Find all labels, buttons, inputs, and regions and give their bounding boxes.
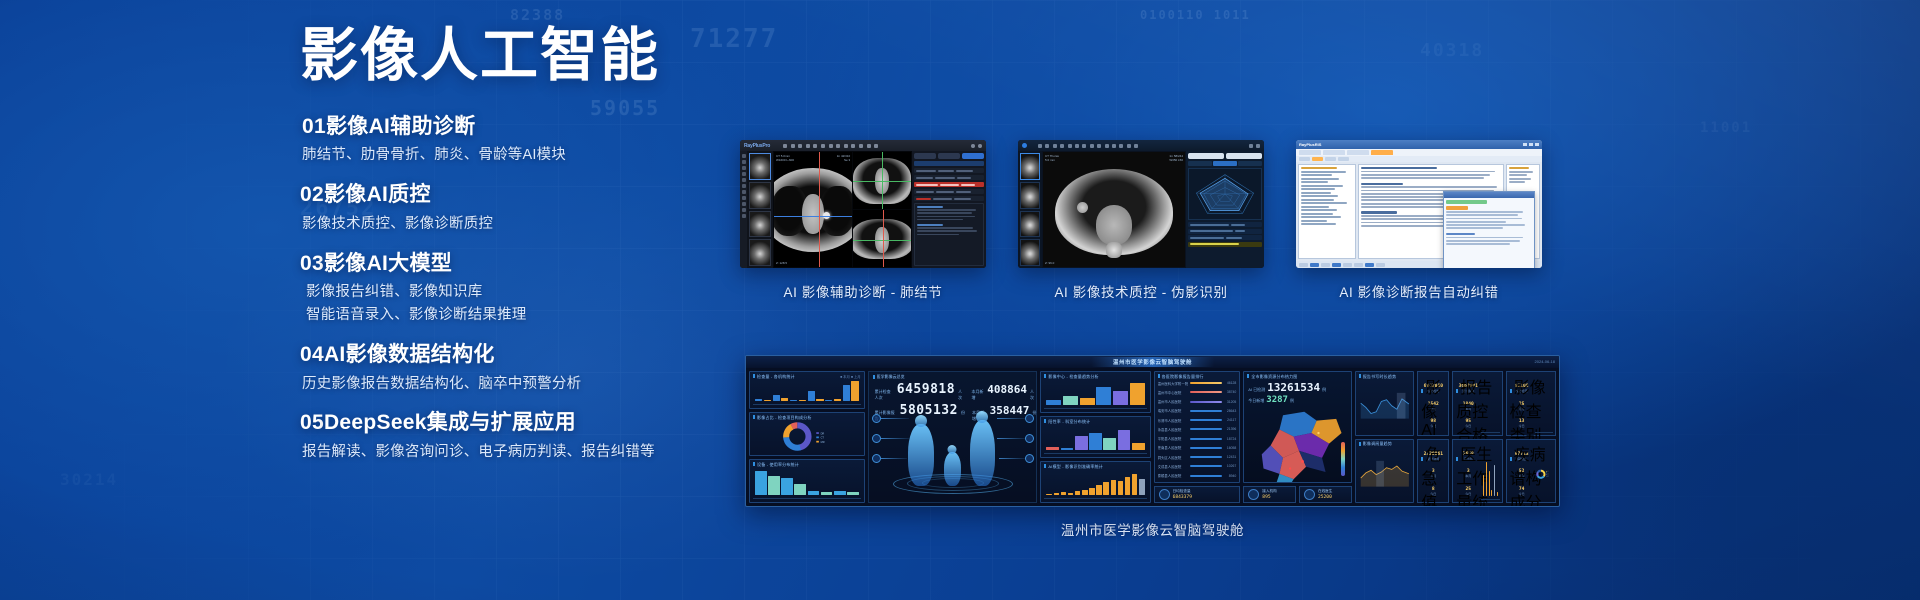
kpi-label: 累计检查人次 [875,389,894,401]
dashboard-minicard-grid: 影像AI检出统计 6843080累计检出 1542本月 98今日 [1417,371,1556,503]
screenshot-card-ct-nodule[interactable]: RayPlusPro [740,140,986,301]
qc-findings-list[interactable] [1188,222,1262,266]
minicard-disease-spectrum[interactable]: 疾病谱构成分析 97713病种数 52本月 74今日 [1506,439,1556,504]
page-title: 影像人工智能 [300,24,720,89]
doctor-icon [1248,489,1259,500]
dashboard-column-3: 影像中心 - 检查量趋势分析 阳性率 - 科室分布统计 [1040,371,1150,503]
rank-row[interactable]: 平阳县人民医院18724 [1158,436,1237,442]
map-color-legend [1341,442,1345,476]
minicard-ai-detection[interactable]: 影像AI检出统计 6843080累计检出 1542本月 98今日 [1417,371,1449,436]
window-controls[interactable] [1523,143,1539,146]
hologram-adult-right [970,420,995,486]
qc-annotation: Im 58/244W350 L50 [1169,154,1183,163]
feature-desc-04: 历史影像报告数据结构化、脑卒中预警分析 [302,373,720,396]
bar-chart [1481,380,1499,433]
ct-finding-row[interactable] [914,189,984,194]
dashboard-column-map: 全市影像资源分布热力图 AI 已检测 13261534 例 今日新增 3287 … [1243,371,1351,503]
qc-toolbar[interactable] [1038,144,1138,148]
ct-coronal-view[interactable] [853,152,911,209]
qc-artifact-marker [1077,202,1088,213]
donut-chart: 肺 骨 脑 腹 [1535,448,1553,501]
rank-row[interactable]: 泰顺县人民医院8940 [1158,473,1237,479]
panel-overview-kpi[interactable]: 医学影像云总览 累计检查人次 6459818 人次 本月新增 408864 人次… [868,371,1038,503]
close-icon[interactable] [1256,144,1260,148]
ct-toolbar[interactable] [783,144,878,148]
ct-thumbnail[interactable] [749,182,771,209]
hologram-node-icon [872,414,881,423]
choropleth-map [1244,394,1350,483]
ct-series-thumbnails[interactable] [747,151,773,268]
toolbar-button[interactable] [1338,157,1349,161]
panel-positive-rate[interactable]: 阳性率 - 科室分布统计 [1040,416,1150,458]
hologram-node-icon [1025,434,1034,443]
screenshot-caption-qc-artifact: AI 影像技术质控 - 伪影识别 [1054,281,1227,301]
ct-report-notes[interactable] [914,203,984,266]
stat-box[interactable]: 接入机构895 [1243,486,1296,503]
area-chart-image-access [1359,448,1411,500]
footer-button[interactable] [1321,263,1330,267]
ct-findings-panel[interactable] [912,151,986,268]
minimize-icon[interactable] [1249,144,1253,148]
dashboard-caption: 温州市医学影像云智脑驾驶舱 [745,519,1560,539]
ct-annotation: Z: 128.5 [776,261,787,265]
qc-score-segments[interactable] [1188,161,1262,166]
screenshot-thumbnail-report-autocorrect[interactable]: RayPlusRIS [1296,140,1542,268]
report-tab[interactable] [1347,150,1369,155]
ai-detect-value: 13261534 [1267,381,1320,394]
panel-device-usage[interactable]: 设备 - 使用率分布统计 [749,459,865,503]
svg-text:肺: 肺 [1547,469,1548,472]
panel-resource-map[interactable]: 全市影像资源分布热力图 AI 已检测 13261534 例 今日新增 3287 … [1243,371,1351,483]
footer-button-primary[interactable] [1365,263,1374,267]
rank-row[interactable]: 温州市中心医院38740 [1158,389,1237,395]
screenshot-thumbnail-ct-nodule[interactable]: RayPlusPro [740,140,986,268]
bar-chart-positive-rate [1044,425,1146,454]
qc-thumbnail[interactable] [1020,182,1040,209]
kpi-panel-title: 医学影像云总览 [873,374,905,380]
dashboard-header-title: 温州市医学影像云智脑驾驶舱 [1091,357,1214,367]
panel-institution-volume[interactable]: 检查量 - 各机构统计 ■ 本月 ■ 上月 [749,371,865,409]
feature-desc-03: 影像报告纠错、影像知识库 智能语音录入、影像诊断结果推理 [306,281,720,327]
toolbar-button[interactable] [1325,157,1336,161]
feature-title-04: 04AI影像数据结构化 [300,339,720,371]
qc-score-panel[interactable] [1186,151,1264,268]
stat-box-row-left: 日均检查量6843379 [1154,486,1241,503]
rank-row[interactable]: 苍南县人民医院16058 [1158,445,1237,451]
toolbar-button-primary[interactable] [1312,157,1323,161]
close-icon[interactable] [1535,143,1539,146]
hologram-node-icon [1025,454,1034,463]
ct-crosshair-horizontal [774,216,852,217]
qc-annotation: CT Thorax5.0 mm [1045,154,1059,163]
ct-crosshair-vertical [819,152,820,267]
app-logo: RayPlusPro [744,143,770,149]
bar-chart [1535,380,1553,433]
ct-finding-row[interactable] [914,175,984,180]
qc-titlebar [1018,140,1264,151]
kpi-value: 6459818 [897,382,955,397]
hologram-adult-left [908,424,934,486]
ct-thumbnail[interactable] [749,211,771,238]
report-tree-panel[interactable] [1298,164,1356,259]
bar-chart-institution-volume [753,380,861,405]
qc-annotation: Z: 96.0 [1045,261,1054,265]
ct-finding-row-alert[interactable] [914,182,984,187]
footer-button-primary[interactable] [1310,263,1319,267]
feature-title-05: 05DeepSeek集成与扩展应用 [300,407,720,439]
ct-titlebar: RayPlusPro [740,140,986,151]
kpi-row-1: 累计检查人次 6459818 人次 本月新增 408864 人次 [875,382,1037,401]
panel-ai-accuracy[interactable]: AI模型 - 影像识别准确率统计 [1040,461,1150,503]
ct-nodule-marker [823,212,830,219]
svg-text:CT: CT [821,436,825,440]
panel-report-duration-trend[interactable]: 报告书写时长趋势 [1355,371,1415,436]
screenshot-caption-ct-nodule: AI 影像辅助诊断 - 肺结节 [783,281,942,301]
dashboard-screenshot[interactable]: 温州市医学影像云智脑驾驶舱 2024-06-18 检查量 - 各机构统计 ■ 本… [745,355,1560,507]
ct-axial-view[interactable]: CT 5.0mmW1600 L-600 Im 42/310Se 3 Z: 128… [774,152,852,267]
report-tabs[interactable] [1296,149,1542,156]
ct-findings-header [914,161,984,166]
screenshot-caption-report-autocorrect: AI 影像诊断报告自动纠错 [1339,281,1498,301]
feature-title-03: 03影像AI大模型 [300,248,720,280]
screenshot-card-qc-artifact[interactable]: CT Thorax5.0 mm Im 58/244W350 L50 Z: 96.… [1018,140,1264,301]
rank-row[interactable]: 温州市人民医院31205 [1158,399,1237,405]
ct-thumbnail[interactable] [749,239,771,266]
bar-chart-center-trend [1044,380,1146,409]
svg-text:MR: MR [821,440,825,444]
qc-thumbnail[interactable] [1020,153,1040,180]
hologram-node-icon [872,454,881,463]
feature-desc-02: 影像技术质控、影像诊断质控 [302,213,720,236]
kpi-unit: 份 [1032,410,1036,416]
dashboard-column-ranking: 各医院影像报告量排行 温州医科大学附一院46128 温州市中心医院38740 温… [1154,371,1241,503]
ct-lung-image [774,168,852,252]
stat-box[interactable]: 日均检查量6843379 [1154,486,1241,503]
panel-center-trend[interactable]: 影像中心 - 检查量趋势分析 [1040,371,1150,413]
report-tab[interactable] [1323,150,1345,155]
feature-item-03: 03影像AI大模型 影像报告纠错、影像知识库 智能语音录入、影像诊断结果推理 [300,248,720,327]
ct-finding-row[interactable] [914,168,984,173]
footer-button-primary[interactable] [1332,263,1341,267]
app-logo-icon [1022,143,1027,148]
report-document-panel[interactable] [1358,164,1504,259]
kpi-value: 408864 [987,383,1027,396]
qc-finding-row[interactable] [1188,235,1262,240]
kpi-label: 本月新增 [971,389,984,401]
qc-finding-row[interactable] [1188,229,1262,234]
autocorrect-dialog[interactable] [1443,191,1535,268]
screenshot-row: RayPlusPro [740,140,1542,301]
kpi-unit: 人次 [958,389,964,401]
device-icon [1304,489,1315,500]
panel-exam-composition[interactable]: 影像占比 - 检查项目构成分析 DR CT [749,412,865,456]
dashboard-header-date: 2024-06-18 [1535,359,1555,364]
qc-mediastinum [1096,205,1132,245]
hologram-child [944,452,961,486]
stat-box[interactable]: 在线医生25200 [1299,486,1352,503]
qc-thumbnail[interactable] [1020,239,1040,266]
rank-row[interactable]: 文成县人民医院10267 [1158,463,1237,469]
ct-tool-rail[interactable] [740,151,747,268]
ct-finding-row[interactable] [914,196,984,201]
dashboard-column-left: 检查量 - 各机构统计 ■ 本月 ■ 上月 影像占比 - 检查项目构成分析 [749,371,865,503]
feature-item-02: 02影像AI质控 影像技术质控、影像诊断质控 [300,179,720,235]
maximize-icon[interactable] [1529,143,1533,146]
feature-item-04: 04AI影像数据结构化 历史影像报告数据结构化、脑卒中预警分析 [300,339,720,395]
toolbar-button[interactable] [1299,157,1310,161]
report-titlebar: RayPlusRIS [1296,140,1542,149]
ct-annotation: Im 42/310Se 3 [837,154,850,163]
minicard-exam-category[interactable]: 影像检查类别统计 85108累计检查 25本月 13今日 [1506,371,1556,436]
feature-desc-01: 肺结节、肋骨骨折、肺炎、骨龄等AI模块 [302,144,720,167]
rank-row[interactable]: 永嘉县人民医院21396 [1158,426,1237,432]
qc-finding-row[interactable] [1188,222,1262,227]
ct-annotation: CT 5.0mmW1600 L-600 [776,154,794,163]
rank-row[interactable]: 温州医科大学附一院46128 [1158,380,1237,386]
feature-item-01: 01影像AI辅助诊断 肺结节、肋骨骨折、肺炎、骨龄等AI模块 [300,111,720,167]
panel-image-access-trend[interactable]: 影像调阅量趋势 [1355,439,1415,504]
report-tab[interactable] [1299,150,1321,155]
qc-series-thumbnails[interactable] [1018,151,1042,268]
app-logo: RayPlusRIS [1299,142,1321,147]
footer-button[interactable] [1299,263,1308,267]
feature-item-05: 05DeepSeek集成与扩展应用 报告解读、影像咨询问诊、电子病历判读、报告纠… [300,407,720,463]
donut-chart-exam-composition: DR CT MR [753,421,861,452]
rank-row[interactable]: 洞头区人民医院12431 [1158,454,1237,460]
feature-desc-05: 报告解读、影像咨询问诊、电子病历判读、报告纠错等 [302,441,720,464]
hospital-icon [1159,489,1170,500]
screenshot-card-report-autocorrect[interactable]: RayPlusRIS [1296,140,1542,301]
kpi-unit: 人次 [1030,389,1036,401]
minimize-icon[interactable] [1523,143,1527,146]
feature-title-02: 02影像AI质控 [300,179,720,211]
stat-box-row-map: 接入机构895 在线医生25200 [1243,486,1351,503]
minicard-report-quality[interactable]: 报告质控合格率统计 3662901累计报告 1840本月 95今日 [1452,371,1502,436]
close-icon[interactable] [978,144,982,148]
line-chart-report-duration [1359,380,1411,432]
minicard-critical-values[interactable]: 医生工作量统计 7658危急值 3本月 25今日 [1452,439,1502,504]
report-tab-active[interactable] [1371,150,1393,155]
hologram-node-icon [1025,414,1034,423]
svg-text:DR: DR [821,431,825,435]
qc-image-view[interactable]: CT Thorax5.0 mm Im 58/244W350 L50 Z: 96.… [1043,152,1185,267]
ai-detect-unit: 例 [1322,387,1326,393]
minicard-image-access[interactable]: 危急值上报统计 2320861累计调阅 3本月 8今日 [1417,439,1449,504]
bar-chart-ai-accuracy [1044,470,1146,499]
hologram-figure-group [878,408,1028,494]
dashboard-column-sparklines: 报告书写时长趋势 影像调阅量趋势 [1355,371,1415,503]
footer-button[interactable] [1354,263,1363,267]
ct-thumbnail[interactable] [749,153,771,180]
qc-spine [1106,242,1122,258]
rank-row[interactable]: 乐清市人民医院24117 [1158,417,1237,423]
bar-chart [1481,448,1499,501]
ct-sagittal-view[interactable] [853,210,911,267]
ct-panel-buttons[interactable] [914,153,984,159]
qc-panel-tabs[interactable] [1188,153,1262,159]
qc-finding-row-warning[interactable] [1188,242,1262,247]
panel-hospital-ranking[interactable]: 各医院影像报告量排行 温州医科大学附一院46128 温州市中心医院38740 温… [1154,371,1241,483]
footer-button[interactable] [1343,263,1352,267]
hologram-node-icon [872,434,881,443]
screenshot-thumbnail-qc-artifact[interactable]: CT Thorax5.0 mm Im 58/244W350 L50 Z: 96.… [1018,140,1264,268]
qc-radar-chart [1188,168,1262,220]
feature-title-01: 01影像AI辅助诊断 [302,111,720,143]
ai-detect-label: AI 已检测 [1248,387,1265,393]
dashboard-card[interactable]: 温州市医学影像云智脑驾驶舱 2024-06-18 检查量 - 各机构统计 ■ 本… [745,355,1560,539]
dashboard-header: 温州市医学影像云智脑驾驶舱 2024-06-18 [746,356,1559,368]
feature-text-column: 影像人工智能 01影像AI辅助诊断 肺结节、肋骨骨折、肺炎、骨龄等AI模块 02… [300,24,720,476]
feature-list: 01影像AI辅助诊断 肺结节、肋骨骨折、肺炎、骨龄等AI模块 02影像AI质控 … [300,111,720,464]
footer-button[interactable] [1376,263,1385,267]
qc-thumbnail[interactable] [1020,211,1040,238]
settings-icon[interactable] [971,144,975,148]
rank-row[interactable]: 瑞安市人民医院28643 [1158,408,1237,414]
bar-chart-device-usage [753,468,861,499]
